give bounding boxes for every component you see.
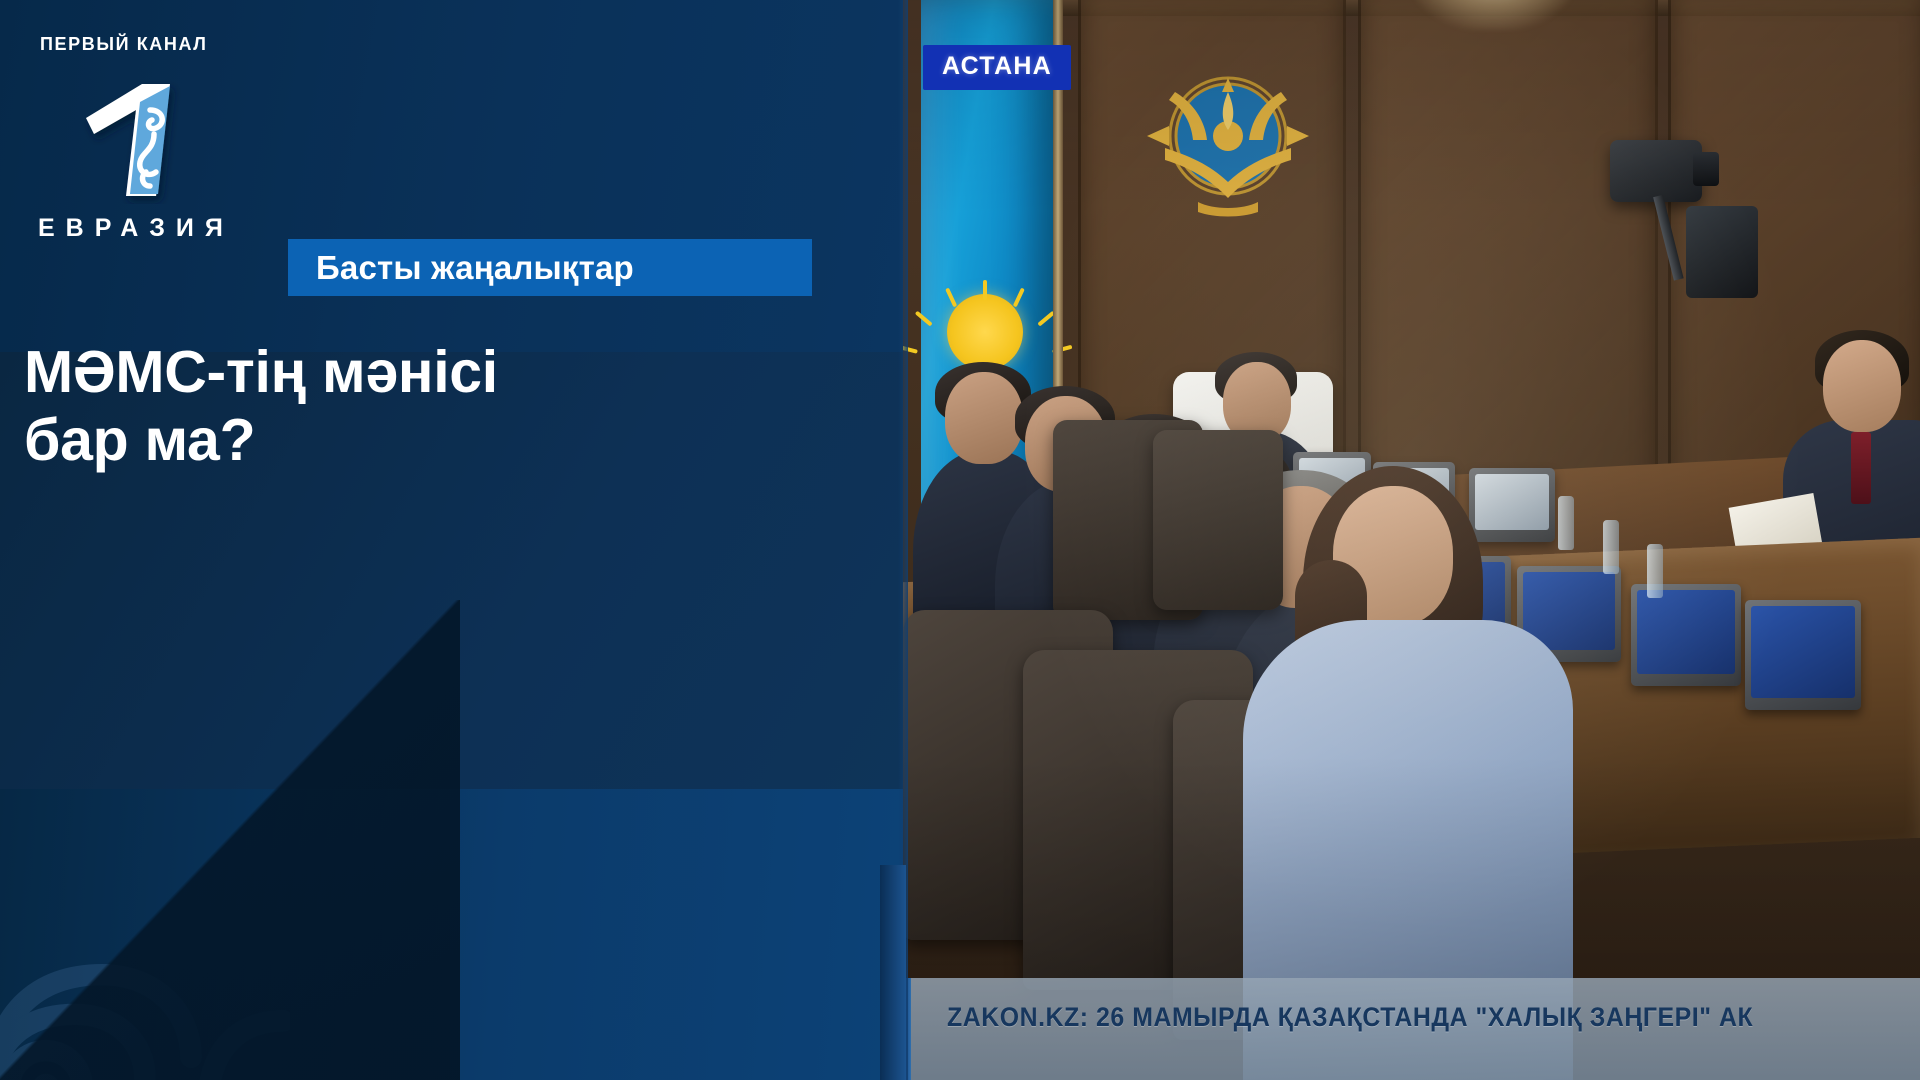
flag-ray: [1013, 288, 1025, 308]
channel-top-label: ПЕРВЫЙ КАНАЛ: [40, 34, 208, 55]
chair: [1153, 430, 1283, 610]
location-badge: АСТАНА: [923, 45, 1071, 90]
flag-sun: [947, 294, 1023, 370]
channel-one-eurasia-logo-icon: [72, 76, 200, 204]
headline-line-1: МӘМС-тің мәнісі: [24, 338, 824, 406]
news-ticker: ZAKON.KZ: 26 МАМЫРДА ҚАЗАҚСТАНДА "ХАЛЫҚ …: [903, 978, 1920, 1080]
camera-lens: [1693, 152, 1719, 186]
desk-monitor: [1745, 600, 1861, 710]
attendee-right-head: [1823, 340, 1901, 432]
video-feed: АСТАНА ZAKON.KZ: 26 МАМЫРДА ҚАЗАҚСТАНДА …: [903, 0, 1920, 1080]
desk-monitor: [1631, 584, 1741, 686]
camera-mount: [1686, 206, 1758, 298]
flag-ray: [983, 280, 987, 300]
kazakhstan-state-emblem-icon: [1135, 52, 1321, 222]
panel-video-seam-bottom: [880, 865, 906, 1080]
ticker-text: ZAKON.KZ: 26 МАМЫРДА ҚАЗАҚСТАНДА "ХАЛЫҚ …: [947, 1002, 1753, 1033]
broadcast-frame: ПЕРВЫЙ КАНАЛ: [0, 0, 1920, 1080]
location-badge-label: АСТАНА: [942, 52, 1052, 80]
desk-monitor: [1469, 468, 1555, 542]
headline: МӘМС-тің мәнісі бар ма?: [24, 338, 824, 475]
water-bottle: [1647, 544, 1663, 598]
flag-ray: [945, 288, 957, 308]
left-graphics-panel: ПЕРВЫЙ КАНАЛ: [0, 0, 903, 1080]
kazakh-ornament-watermark-icon: [0, 780, 290, 1080]
studio-camera-icon: [1610, 140, 1702, 202]
headline-line-2: бар ма?: [24, 406, 824, 474]
water-bottle: [1603, 520, 1619, 574]
water-bottle: [1558, 496, 1574, 550]
channel-bottom-label: ЕВРАЗИЯ: [38, 214, 234, 243]
attendee-right-tie: [1851, 432, 1871, 504]
attendee-head: [945, 372, 1023, 464]
section-banner: Басты жаңалықтар: [288, 239, 812, 296]
section-banner-label: Басты жаңалықтар: [316, 249, 634, 287]
